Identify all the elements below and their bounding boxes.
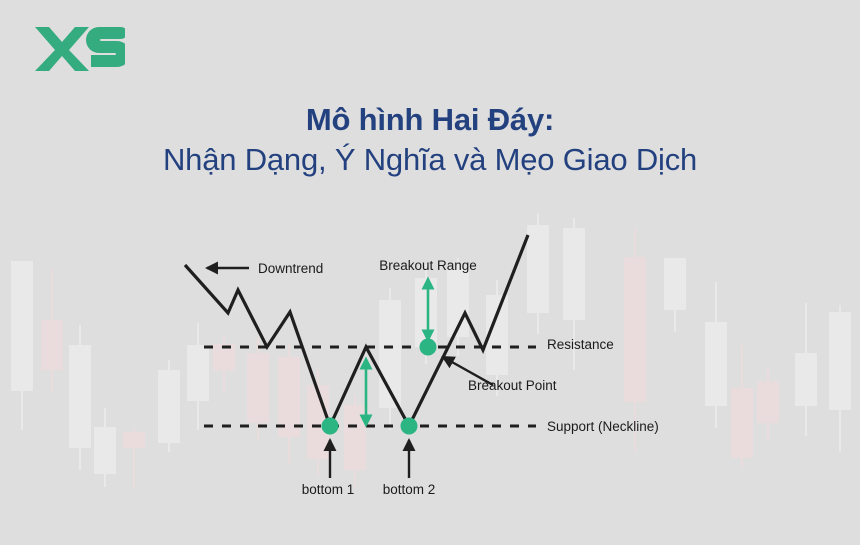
candle-body: [94, 427, 116, 474]
bottom-1-label: bottom 1: [302, 482, 355, 497]
downtrend-label: Downtrend: [258, 261, 323, 276]
candle-body: [247, 353, 269, 423]
support-label: Support (Neckline): [547, 419, 659, 434]
double-bottom-chart: Downtrend Breakout Range Breakout Point …: [0, 0, 860, 545]
candle-body: [705, 322, 727, 406]
candle-body: [795, 353, 817, 406]
resistance-label: Resistance: [547, 337, 614, 352]
candle-body: [563, 228, 585, 320]
candle-body: [158, 370, 180, 443]
candle-body: [624, 257, 646, 402]
candle-body: [829, 312, 851, 410]
candle-body: [11, 261, 33, 391]
candle-body: [69, 345, 91, 448]
breakout-range-label: Breakout Range: [379, 258, 477, 273]
breakout-point-label: Breakout Point: [468, 378, 557, 393]
candle-body: [757, 381, 779, 423]
candle-body: [731, 388, 753, 458]
marker-dot: [401, 418, 418, 435]
candle-body: [187, 345, 209, 401]
candle-body: [527, 225, 549, 313]
marker-dot: [420, 339, 437, 356]
candle-body: [664, 258, 686, 310]
candle-body: [415, 278, 437, 347]
marker-dot: [322, 418, 339, 435]
candle-body: [123, 432, 145, 448]
candle-body: [344, 405, 366, 470]
candle-body: [41, 320, 63, 370]
page-root: Mô hình Hai Đáy: Nhận Dạng, Ý Nghĩa và M…: [0, 0, 860, 545]
bottom-2-label: bottom 2: [383, 482, 436, 497]
